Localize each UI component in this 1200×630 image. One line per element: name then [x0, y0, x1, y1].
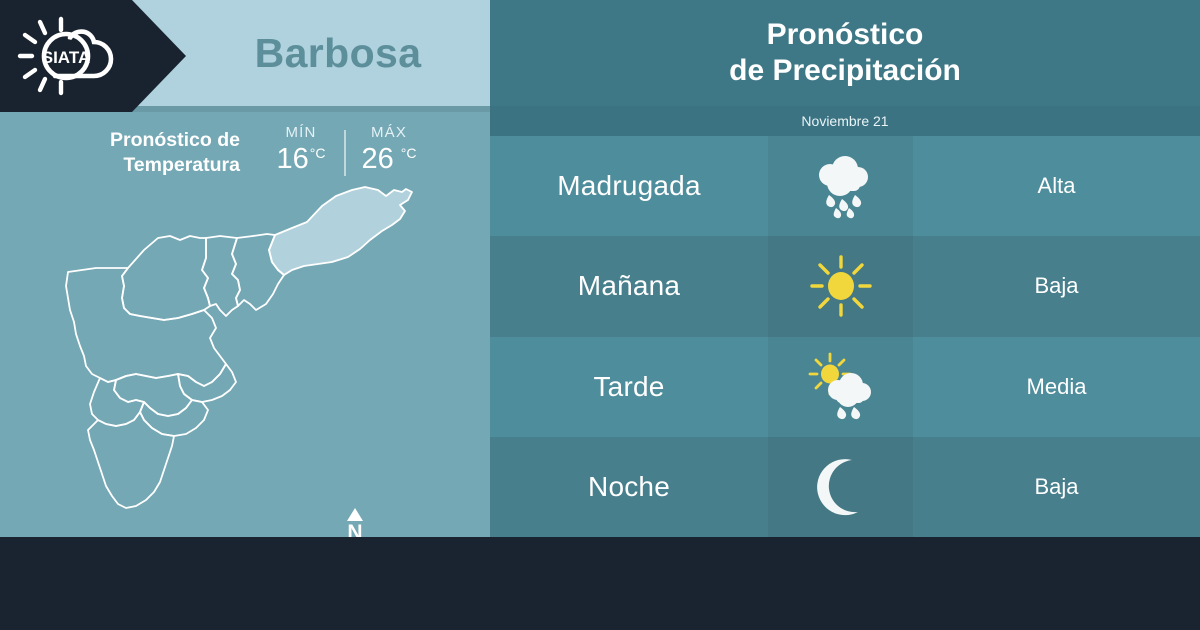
- left-panel: SIATA Barbosa Pronóstico de Temperatura …: [0, 0, 490, 537]
- max-value: 26: [362, 142, 394, 176]
- map-region-bello: [122, 236, 210, 320]
- map-svg: [60, 178, 460, 530]
- period-cell: Noche: [490, 437, 768, 537]
- precipitation-title-line2: de Precipitación: [729, 53, 961, 89]
- compass-arrow-icon: [347, 508, 363, 521]
- period-label: Noche: [588, 471, 670, 503]
- table-row[interactable]: Mañana: [490, 236, 1200, 336]
- temperature-title-line1: Pronóstico de: [60, 128, 240, 153]
- map-region-caldas: [88, 412, 174, 508]
- map-region-sabaneta: [140, 400, 208, 436]
- table-row[interactable]: Tarde: [490, 337, 1200, 437]
- probability-cell: Alta: [913, 136, 1200, 236]
- period-cell: Tarde: [490, 337, 768, 437]
- period-label: Tarde: [593, 371, 664, 403]
- page-title: Barbosa: [186, 0, 490, 106]
- map-region-medellin: [66, 268, 226, 386]
- probability-label: Media: [1027, 374, 1087, 400]
- period-label: Madrugada: [557, 170, 700, 202]
- max-unit: °C: [401, 142, 417, 162]
- map-region-copacabana: [202, 236, 240, 316]
- sun-rain-cloud-icon: [804, 350, 878, 424]
- right-panel: Pronóstico de Precipitación Noviembre 21…: [490, 0, 1200, 537]
- max-label: MÁX: [371, 124, 407, 142]
- forecast-date: Noviembre 21: [801, 113, 888, 129]
- min-unit: °C: [310, 142, 326, 162]
- min-value: 16: [277, 142, 309, 176]
- probability-cell: Baja: [913, 437, 1200, 537]
- icon-cell: [768, 136, 913, 236]
- probability-label: Alta: [1038, 173, 1076, 199]
- period-label: Mañana: [578, 270, 680, 302]
- table-row[interactable]: Madrugada: [490, 136, 1200, 236]
- period-cell: Madrugada: [490, 136, 768, 236]
- temperature-max: MÁX 26 °C: [350, 124, 428, 176]
- icon-cell: [768, 337, 913, 437]
- map-region-barbosa: [269, 187, 412, 275]
- probability-label: Baja: [1034, 474, 1078, 500]
- table-row[interactable]: Noche Baja: [490, 437, 1200, 537]
- icon-cell: [768, 437, 913, 537]
- max-value-group: 26 °C: [362, 142, 417, 176]
- precipitation-header: Pronóstico de Precipitación: [490, 0, 1200, 106]
- precipitation-table: Madrugada: [490, 136, 1200, 537]
- rain-cloud-icon: [804, 149, 878, 223]
- precipitation-title: Pronóstico de Precipitación: [729, 17, 961, 89]
- sun-cloud-icon: SIATA: [14, 14, 132, 98]
- logo-wordmark: SIATA: [42, 48, 90, 67]
- period-cell: Mañana: [490, 236, 768, 336]
- min-label: MÍN: [285, 124, 316, 142]
- temperature-min: MÍN 16 °C: [262, 124, 340, 176]
- temperature-title: Pronóstico de Temperatura: [60, 124, 240, 178]
- min-value-group: 16 °C: [277, 142, 326, 176]
- precipitation-title-line1: Pronóstico: [729, 17, 961, 53]
- temperature-divider: [344, 130, 346, 176]
- crescent-moon-icon: [804, 450, 878, 524]
- aburra-valley-map[interactable]: N: [60, 178, 460, 530]
- probability-label: Baja: [1034, 273, 1078, 299]
- icon-cell: [768, 236, 913, 336]
- date-bar: Noviembre 21: [490, 106, 1200, 136]
- sun-icon: [804, 249, 878, 323]
- probability-cell: Media: [913, 337, 1200, 437]
- footer: @siatamedellin www.siata.gov.co Con el a…: [0, 537, 1200, 630]
- temperature-values: MÍN 16 °C MÁX 26 °C: [262, 124, 428, 176]
- temperature-title-line2: Temperatura: [60, 153, 240, 178]
- weather-forecast-poster: SIATA Barbosa Pronóstico de Temperatura …: [0, 0, 1200, 630]
- probability-cell: Baja: [913, 236, 1200, 336]
